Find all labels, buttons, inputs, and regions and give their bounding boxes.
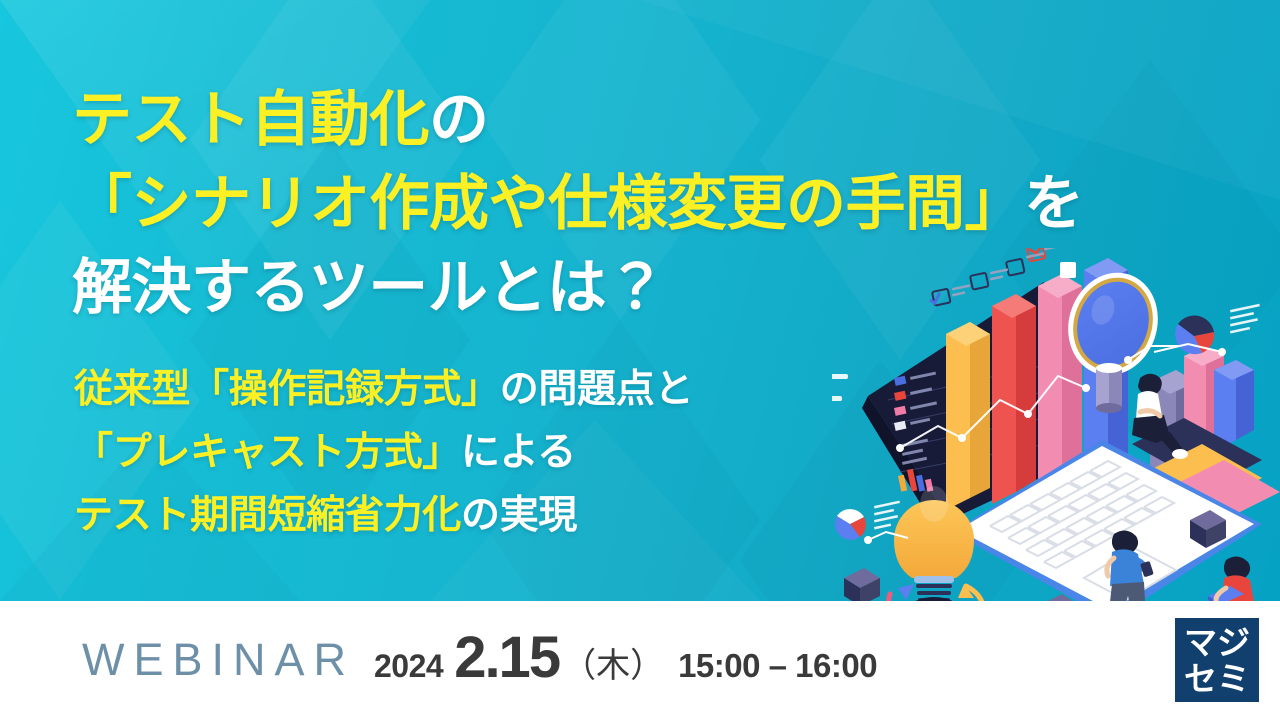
title-line-2: 「シナリオ作成や仕様変更の手間」を — [72, 162, 972, 246]
event-day: 2.15 — [454, 624, 559, 691]
event-time-range: 15:00 – 16:00 — [678, 647, 877, 685]
webinar-banner: テスト自動化の 「シナリオ作成や仕様変更の手間」を 解決するツールとは？ 従来型… — [0, 0, 1280, 720]
event-date-time: 2024 2.15 （木） 15:00 – 16:00 — [374, 624, 877, 691]
subtitle-line-1-plain: の問題点と — [500, 368, 694, 411]
title-line-1-plain: の — [429, 86, 489, 153]
subtitle-line-2-plain: による — [461, 431, 576, 474]
subtitle-line-2-highlight: 「プレキャスト方式」 — [74, 431, 461, 474]
event-day-of-week: （木） — [562, 638, 664, 687]
subtitle-line-3: テスト期間短縮省力化の実現 — [74, 484, 934, 547]
title-line-3: 解決するツールとは？ — [72, 246, 972, 330]
page-title: テスト自動化の 「シナリオ作成や仕様変更の手間」を 解決するツールとは？ — [72, 78, 972, 330]
title-line-1: テスト自動化の — [72, 78, 972, 162]
page-subtitle: 従来型「操作記録方式」の問題点と 「プレキャスト方式」による テスト期間短縮省力… — [74, 358, 934, 548]
title-line-3-plain: 解決するツールとは？ — [72, 254, 666, 321]
majisemi-logo: マジ セミ — [1175, 618, 1259, 702]
subtitle-line-3-highlight: テスト期間短縮省力化 — [74, 494, 461, 537]
logo-line-2: セミ — [1184, 662, 1250, 695]
event-year: 2024 — [374, 648, 443, 685]
subtitle-line-1-highlight: 従来型「操作記録方式」 — [74, 368, 500, 411]
webinar-label: WEBINAR — [82, 634, 355, 686]
logo-line-1: マジ — [1184, 626, 1250, 659]
subtitle-line-3-plain: の実現 — [461, 494, 577, 537]
title-line-1-highlight: テスト自動化 — [72, 86, 429, 153]
subtitle-line-1: 従来型「操作記録方式」の問題点と — [74, 358, 934, 421]
subtitle-line-2: 「プレキャスト方式」による — [74, 421, 934, 484]
title-line-2-highlight: 「シナリオ作成や仕様変更の手間」 — [72, 170, 1024, 237]
title-line-2-plain: を — [1024, 170, 1084, 237]
